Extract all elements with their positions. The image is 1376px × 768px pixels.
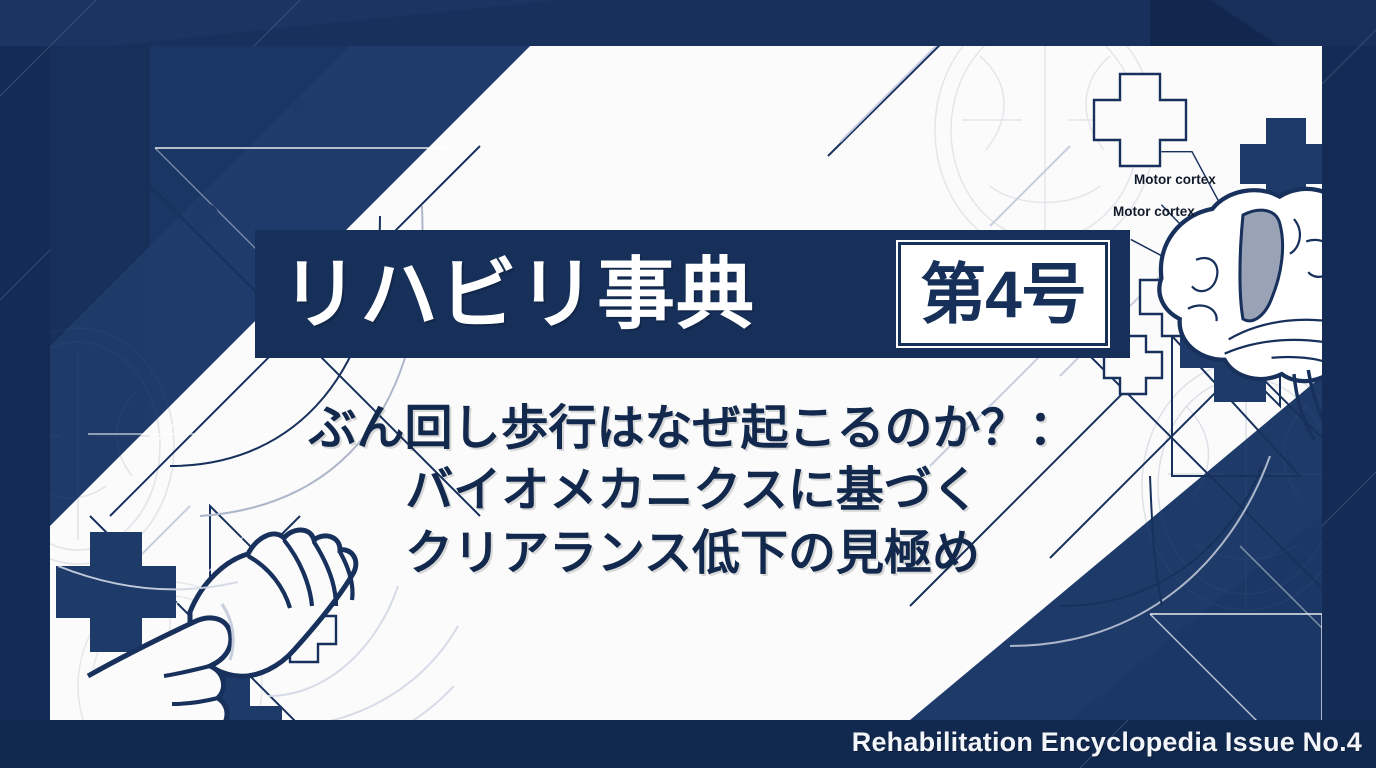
content-panel: Motor cortex Motor cortex リハビリ事典 第4号 ぶん回… bbox=[50, 46, 1322, 720]
slide-canvas: Motor cortex Motor cortex リハビリ事典 第4号 ぶん回… bbox=[0, 0, 1376, 768]
subtitle-line-1: ぶん回し歩行はなぜ起こるのか？： bbox=[255, 398, 1130, 460]
brain-label-motor-cortex-2: Motor cortex bbox=[1113, 204, 1195, 219]
panel-decoration bbox=[50, 46, 1322, 720]
footer-caption: Rehabilitation Encyclopedia Issue No.4 bbox=[852, 727, 1362, 758]
subtitle-block: ぶん回し歩行はなぜ起こるのか？： バイオメカニクスに基づく クリアランス低下の見… bbox=[255, 398, 1130, 585]
issue-badge-label: 第4号 bbox=[920, 261, 1086, 327]
subtitle-line-3: クリアランス低下の見極め bbox=[255, 523, 1130, 585]
issue-badge: 第4号 bbox=[898, 242, 1108, 346]
subtitle-line-2: バイオメカニクスに基づく bbox=[255, 460, 1130, 522]
page-title: リハビリ事典 bbox=[281, 255, 898, 333]
brain-label-motor-cortex-1: Motor cortex bbox=[1134, 172, 1216, 187]
title-banner: リハビリ事典 第4号 bbox=[255, 230, 1130, 358]
